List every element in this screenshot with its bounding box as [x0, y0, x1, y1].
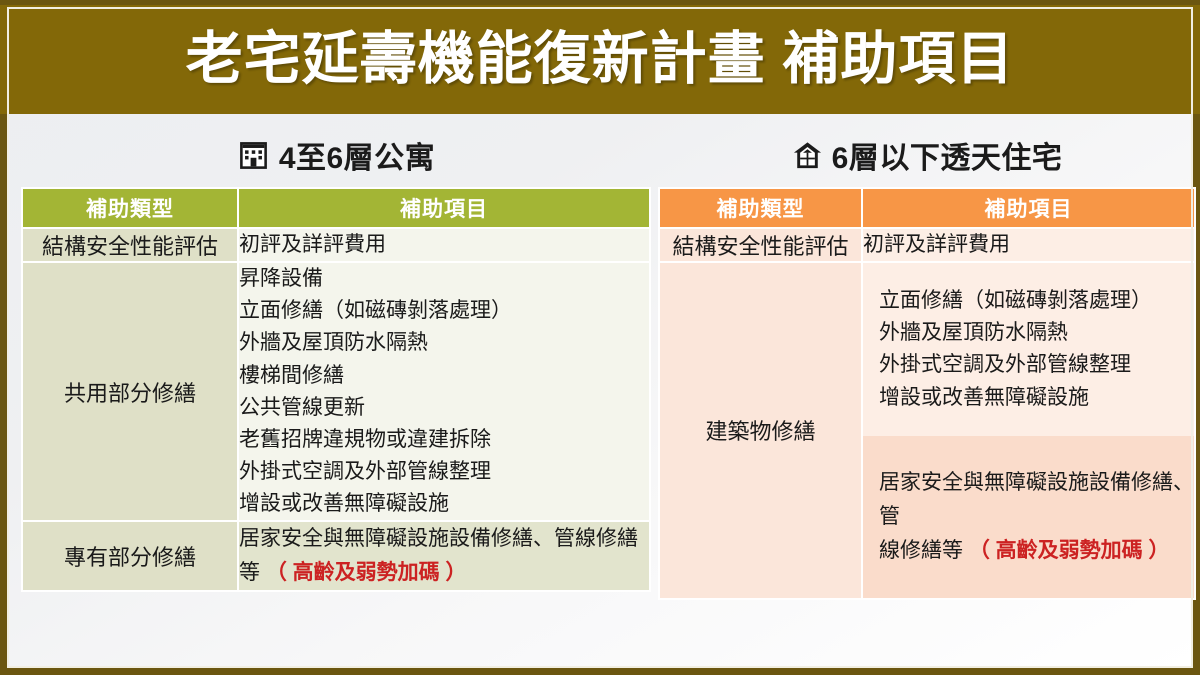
table-header-row: 補助類型 補助項目 — [659, 188, 1195, 228]
list-item-accented: 等 （ 高齡及弱勢加碼 ） — [239, 556, 649, 590]
column-header-item: 補助項目 — [862, 188, 1195, 228]
table-row: 專有部分修繕 居家安全與無障礙設施設備修繕、管線修繕 等 （ 高齡及弱勢加碼 ） — [22, 521, 650, 591]
list-item-lead: 等 — [239, 561, 260, 584]
list-item: 外掛式空調及外部管線整理 — [879, 349, 1194, 381]
row-label-common-area-repair: 共用部分修繕 — [22, 262, 238, 521]
list-item: 樓梯間修繕 — [239, 360, 649, 392]
list-item: 居家安全與無障礙設施設備修繕、管 — [879, 466, 1194, 534]
row-items-common-area-repair: 昇降設備 立面修繕（如磁磚剝落處理） 外牆及屋頂防水隔熱 樓梯間修繕 公共管線更… — [238, 262, 650, 521]
table-apartment: 補助類型 補助項目 結構安全性能評估 初評及詳評費用 共用部分修繕 昇降設備 立… — [21, 187, 651, 592]
table-townhouse: 補助類型 補助項目 結構安全性能評估 初評及詳評費用 建築物修繕 — [658, 187, 1196, 600]
panel-townhouse: 6層以下透天住宅 補助類型 補助項目 結構安全性能評估 初評及詳評費用 建築物修… — [658, 133, 1196, 600]
list-item: 老舊招牌違規物或違建拆除 — [239, 424, 649, 456]
row-items-structural-assessment: 初評及詳評費用 — [238, 228, 650, 262]
list-item: 初評及詳評費用 — [863, 229, 1194, 261]
table-row: 結構安全性能評估 初評及詳評費用 — [659, 228, 1195, 262]
table-row: 結構安全性能評估 初評及詳評費用 — [22, 228, 650, 262]
status-badge-bonus: （ 高齡及弱勢加碼 ） — [969, 539, 1170, 562]
column-header-type: 補助類型 — [22, 188, 238, 228]
row-items-private-area-repair: 居家安全與無障礙設施設備修繕、管線修繕 等 （ 高齡及弱勢加碼 ） — [238, 521, 650, 591]
list-item: 昇降設備 — [239, 263, 649, 295]
list-item: 居家安全與無障礙設施設備修繕、管線修繕 — [239, 522, 649, 556]
panel-apartment: 4至6層公寓 補助類型 補助項目 結構安全性能評估 初評及詳評費用 共用部分修繕 — [21, 133, 651, 592]
apartment-building-icon — [237, 139, 270, 172]
row-label-structural-assessment: 結構安全性能評估 — [22, 228, 238, 262]
list-item: 公共管線更新 — [239, 392, 649, 424]
panel-apartment-label: 4至6層公寓 — [279, 133, 435, 177]
column-header-type: 補助類型 — [659, 188, 862, 228]
page-title: 老宅延壽機能復新計畫 補助項目 — [186, 31, 1015, 88]
list-item-accented: 線修繕等 （ 高齡及弱勢加碼 ） — [879, 534, 1194, 568]
list-item: 外牆及屋頂防水隔熱 — [239, 327, 649, 359]
panel-townhouse-label: 6層以下透天住宅 — [832, 133, 1063, 177]
list-item: 立面修繕（如磁磚剝落處理） — [239, 295, 649, 327]
list-item: 初評及詳評費用 — [239, 229, 649, 261]
row-items-structural-assessment: 初評及詳評費用 — [862, 228, 1195, 262]
list-item-lead: 線修繕等 — [879, 539, 963, 562]
building-repair-block-bonus: 居家安全與無障礙設施設備修繕、管 線修繕等 （ 高齡及弱勢加碼 ） — [863, 436, 1194, 598]
list-item: 增設或改善無障礙設施 — [879, 382, 1194, 414]
list-item: 增設或改善無障礙設施 — [239, 488, 649, 520]
list-item: 立面修繕（如磁磚剝落處理） — [879, 285, 1194, 317]
slide-title-bar: 老宅延壽機能復新計畫 補助項目 — [0, 0, 1200, 114]
table-row: 共用部分修繕 昇降設備 立面修繕（如磁磚剝落處理） 外牆及屋頂防水隔熱 樓梯間修… — [22, 262, 650, 521]
row-label-private-area-repair: 專有部分修繕 — [22, 521, 238, 591]
row-label-structural-assessment: 結構安全性能評估 — [659, 228, 862, 262]
row-label-building-repair: 建築物修繕 — [659, 262, 862, 599]
building-repair-block-standard: 立面修繕（如磁磚剝落處理） 外牆及屋頂防水隔熱 外掛式空調及外部管線整理 增設或… — [863, 263, 1194, 436]
slide-canvas: 老宅延壽機能復新計畫 補助項目 4至6層公寓 — [0, 0, 1200, 675]
status-badge-bonus: （ 高齡及弱勢加碼 ） — [266, 561, 467, 584]
column-header-item: 補助項目 — [238, 188, 650, 228]
row-items-building-repair: 立面修繕（如磁磚剝落處理） 外牆及屋頂防水隔熱 外掛式空調及外部管線整理 增設或… — [862, 262, 1195, 599]
panel-townhouse-heading: 6層以下透天住宅 — [658, 133, 1196, 177]
house-icon — [792, 140, 823, 171]
list-item: 外掛式空調及外部管線整理 — [239, 456, 649, 488]
table-header-row: 補助類型 補助項目 — [22, 188, 650, 228]
list-item: 外牆及屋頂防水隔熱 — [879, 317, 1194, 349]
table-row: 建築物修繕 立面修繕（如磁磚剝落處理） 外牆及屋頂防水隔熱 外掛式空調及外部管線… — [659, 262, 1195, 599]
panel-apartment-heading: 4至6層公寓 — [21, 133, 651, 177]
